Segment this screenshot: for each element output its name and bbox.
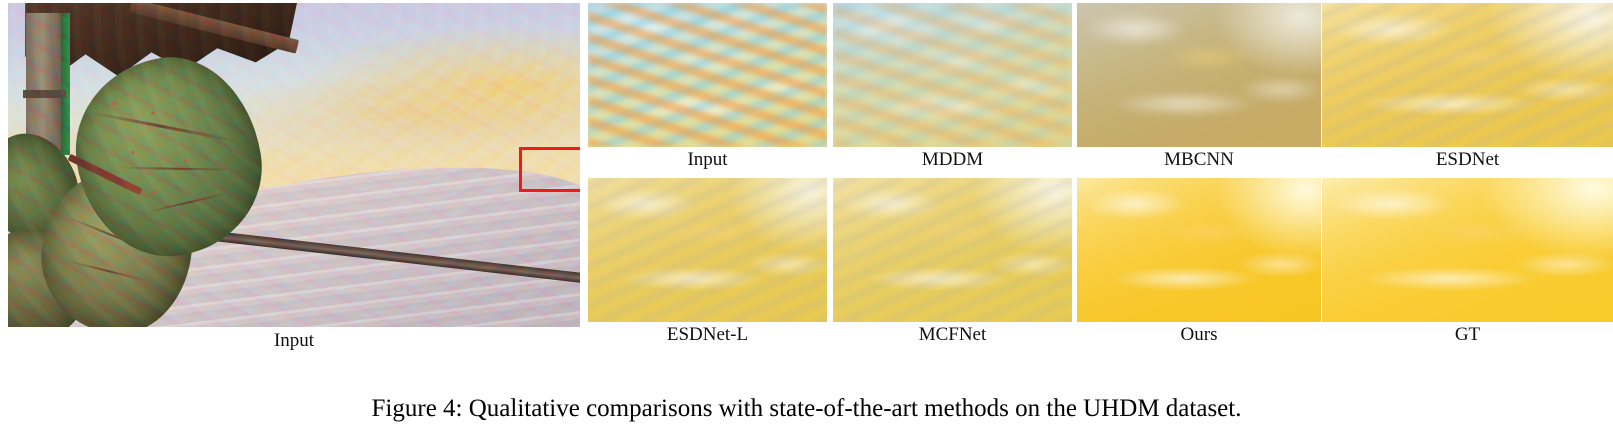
crop-label-input: Input bbox=[588, 149, 827, 171]
main-input-image-canvas bbox=[8, 3, 580, 327]
patch-moire-faint bbox=[833, 178, 1072, 322]
roi-rectangle[interactable] bbox=[519, 147, 580, 192]
patch-gt bbox=[1322, 178, 1613, 322]
crop-cell-esdnet-l[interactable]: ESDNet-L bbox=[588, 178, 827, 351]
crop-row-1: Input MDDM bbox=[588, 3, 1613, 176]
crop-label-ours: Ours bbox=[1077, 324, 1321, 346]
patch-mcfnet bbox=[833, 178, 1072, 322]
crop-label-mcfnet: MCFNet bbox=[833, 324, 1072, 346]
patch-clouds bbox=[1322, 178, 1613, 322]
patch-moire-faint bbox=[588, 178, 827, 322]
main-input-image[interactable] bbox=[8, 3, 580, 327]
crop-label-mddm: MDDM bbox=[833, 149, 1072, 171]
crop-label-esdnet-l: ESDNet-L bbox=[588, 324, 827, 346]
patch-moire-mid bbox=[833, 3, 1072, 147]
main-image-label: Input bbox=[8, 330, 580, 352]
crop-label-mbcnn: MBCNN bbox=[1077, 149, 1321, 171]
crop-cell-input[interactable]: Input bbox=[588, 3, 827, 176]
crop-cell-mbcnn[interactable]: MBCNN bbox=[1077, 3, 1321, 176]
patch-mddm bbox=[833, 3, 1072, 147]
patch-mbcnn bbox=[1077, 3, 1321, 147]
crop-cell-mcfnet[interactable]: MCFNet bbox=[833, 178, 1072, 351]
crop-cell-mddm[interactable]: MDDM bbox=[833, 3, 1072, 176]
crop-image-mddm[interactable] bbox=[833, 3, 1072, 147]
crop-image-gt[interactable] bbox=[1322, 178, 1613, 322]
patch-ours bbox=[1077, 178, 1321, 322]
figure-4-root: Input Input bbox=[0, 0, 1613, 437]
figure-caption: Figure 4: Qualitative comparisons with s… bbox=[0, 395, 1613, 423]
crop-image-mcfnet[interactable] bbox=[833, 178, 1072, 322]
patch-esdnet-l bbox=[588, 178, 827, 322]
patch-input bbox=[588, 3, 827, 147]
crop-image-esdnet[interactable] bbox=[1322, 3, 1613, 147]
crop-cell-esdnet[interactable]: ESDNet bbox=[1322, 3, 1613, 176]
patch-moire-strong bbox=[588, 3, 827, 147]
crop-comparison-grid: Input MDDM bbox=[588, 3, 1613, 360]
crop-image-mbcnn[interactable] bbox=[1077, 3, 1321, 147]
patch-moire-faint bbox=[1322, 3, 1613, 147]
crop-cell-ours[interactable]: Ours bbox=[1077, 178, 1321, 351]
crop-image-esdnet-l[interactable] bbox=[588, 178, 827, 322]
patch-esdnet bbox=[1322, 3, 1613, 147]
patch-clouds bbox=[1077, 178, 1321, 322]
crop-label-esdnet: ESDNet bbox=[1322, 149, 1613, 171]
crop-image-ours[interactable] bbox=[1077, 178, 1321, 322]
moire-pattern-overlay-secondary bbox=[8, 3, 580, 327]
crop-cell-gt[interactable]: GT bbox=[1322, 178, 1613, 351]
patch-clouds bbox=[1077, 3, 1321, 147]
crop-image-input[interactable] bbox=[588, 3, 827, 147]
crop-label-gt: GT bbox=[1322, 324, 1613, 346]
crop-row-2: ESDNet-L MCFNet bbox=[588, 178, 1613, 351]
